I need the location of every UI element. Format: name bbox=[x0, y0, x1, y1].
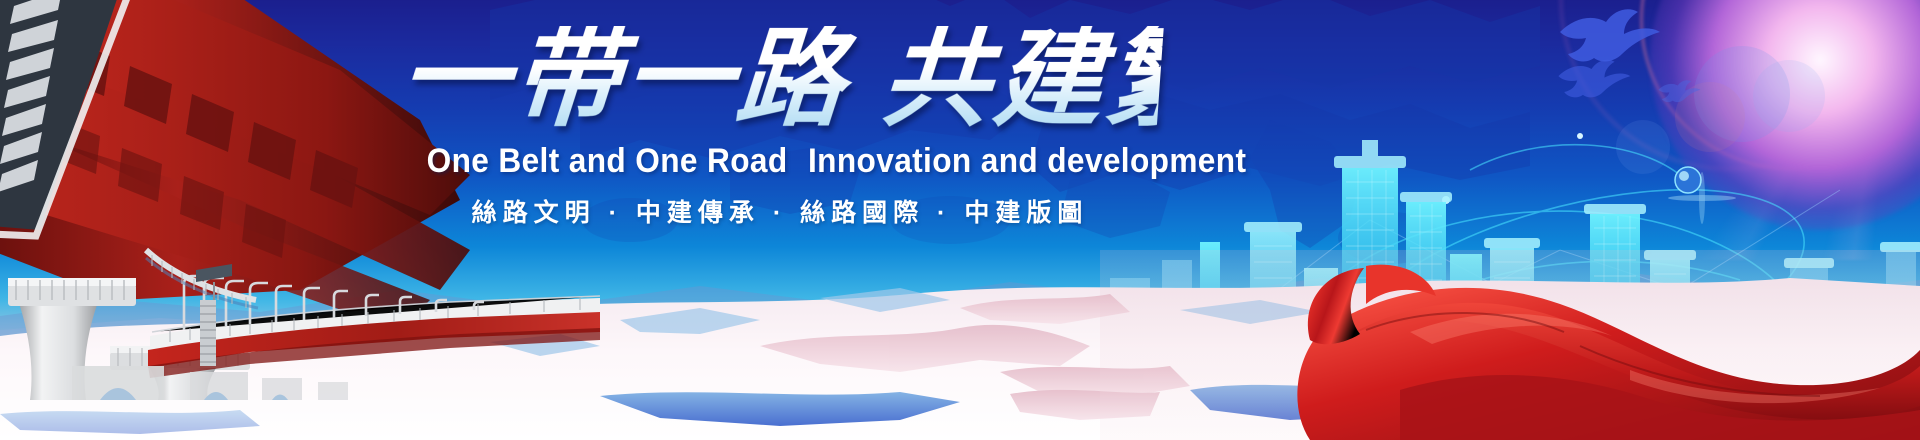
page-title: 一带一路共建繁荣 bbox=[396, 26, 1164, 136]
subtitle-chinese: 絲路文明 · 中建傳承 · 絲路國際 · 中建版圖 bbox=[400, 193, 1160, 229]
subtitle-en-left: One Belt and One Road bbox=[427, 142, 788, 180]
subtitle-en-right: Innovation and development bbox=[808, 142, 1246, 180]
banner-text-block: 一带一路共建繁荣 One Belt and One RoadInnovation… bbox=[400, 26, 1160, 229]
headline-left: 一带一路 bbox=[396, 21, 852, 140]
ribbon-icon bbox=[1160, 220, 1920, 440]
subtitle-english: One Belt and One RoadInnovation and deve… bbox=[427, 142, 1134, 181]
one-belt-one-road-banner: 一带一路共建繁荣 One Belt and One RoadInnovation… bbox=[0, 0, 1920, 440]
headline-right: 共建繁荣 bbox=[878, 21, 1334, 140]
